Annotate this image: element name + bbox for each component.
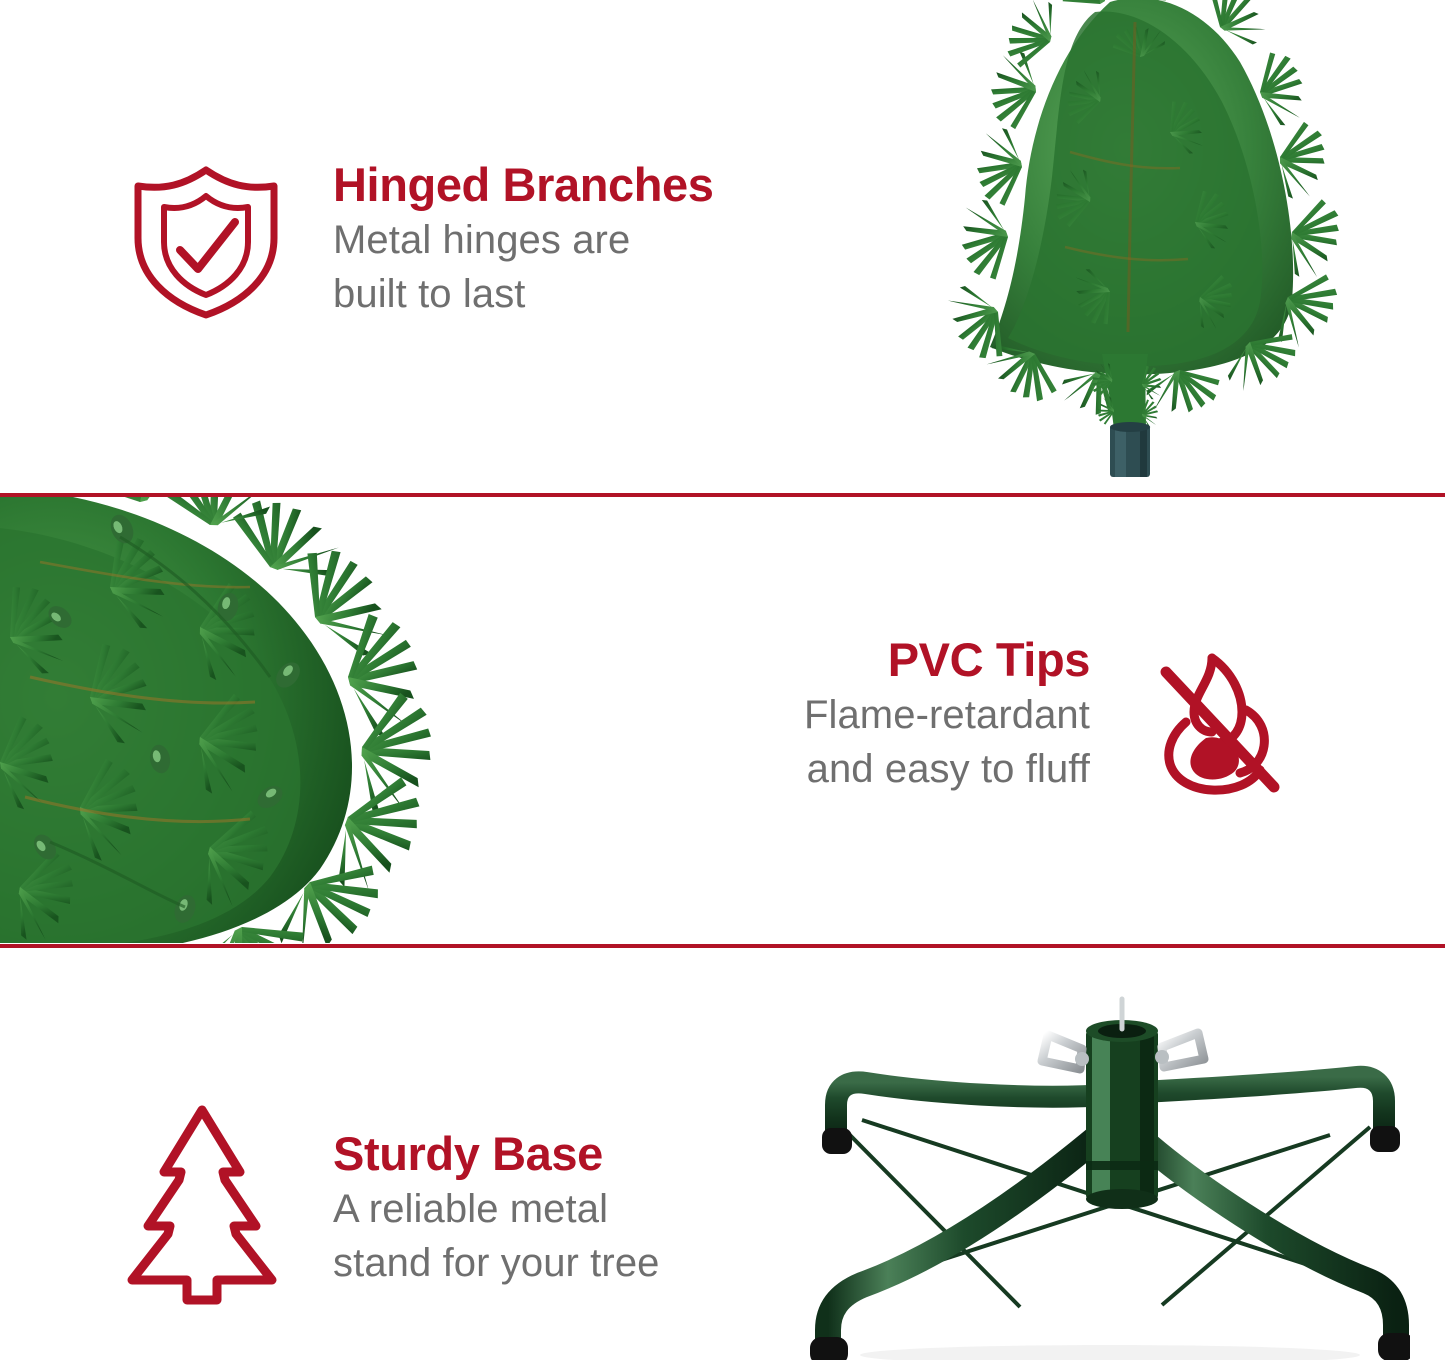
shield-check-icon (126, 160, 286, 320)
christmas-tree-section-photo (840, 0, 1440, 482)
panel-heading-sturdy-base: Sturdy Base (333, 1126, 660, 1182)
pvc-tips-text-block: PVC Tips Flame-retardant and easy to flu… (804, 632, 1090, 796)
body-line: and easy to fluff (804, 742, 1090, 796)
panel-hinged-branches: Hinged Branches Metal hinges are built t… (0, 0, 1445, 495)
metal-tree-stand-photo (770, 985, 1410, 1360)
panel-body-hinged-branches: Metal hinges are built to last (333, 213, 714, 321)
no-flame-icon (1150, 650, 1290, 795)
tree-branches-closeup-photo (0, 497, 510, 943)
body-line: stand for your tree (333, 1236, 660, 1290)
sturdy-base-text-block: Sturdy Base A reliable metal stand for y… (333, 1126, 660, 1290)
panel-sturdy-base: Sturdy Base A reliable metal stand for y… (0, 948, 1445, 1360)
panel-heading-hinged-branches: Hinged Branches (333, 157, 714, 213)
panel-body-sturdy-base: A reliable metal stand for your tree (333, 1182, 660, 1290)
christmas-tree-outline-icon (122, 1100, 282, 1310)
panel-body-pvc-tips: Flame-retardant and easy to fluff (804, 688, 1090, 796)
body-line: built to last (333, 267, 714, 321)
panel-pvc-tips: PVC Tips Flame-retardant and easy to flu… (0, 497, 1445, 946)
hinged-branches-text-block: Hinged Branches Metal hinges are built t… (333, 157, 714, 321)
panel-heading-pvc-tips: PVC Tips (804, 632, 1090, 688)
body-line: A reliable metal (333, 1182, 660, 1236)
product-feature-infographic: Hinged Branches Metal hinges are built t… (0, 0, 1445, 1360)
body-line: Metal hinges are (333, 213, 714, 267)
body-line: Flame-retardant (804, 688, 1090, 742)
